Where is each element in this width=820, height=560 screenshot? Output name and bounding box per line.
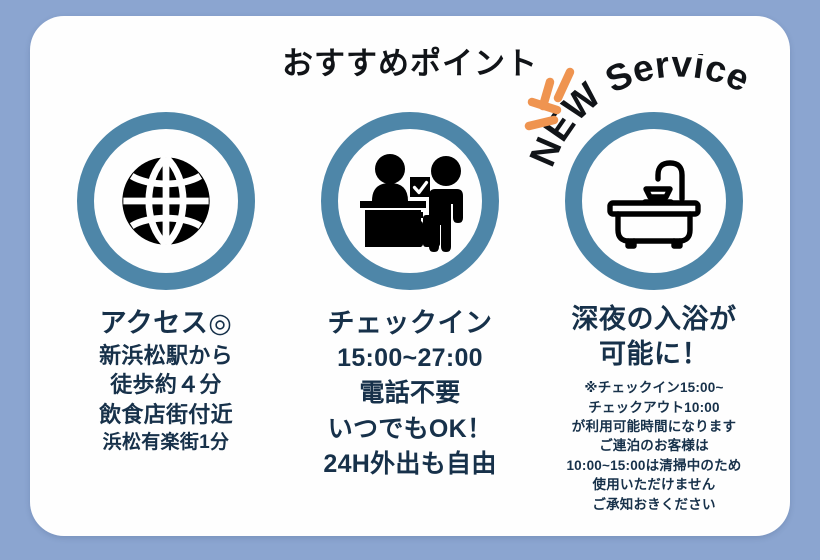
access-line-3: 飲食店街付近 xyxy=(46,400,286,430)
checkin-line-3: いつでもOK！ xyxy=(290,412,530,448)
promo-card: おすすめポイント アクセス◎ 新浜松駅から 徒歩約４ xyxy=(30,16,790,536)
bath-heading-line-1: 深夜の入浴が xyxy=(534,302,774,337)
access-line-4: 浜松有楽街1分 xyxy=(46,430,286,456)
globe-icon xyxy=(94,129,238,273)
page-title: おすすめポイント xyxy=(30,38,790,83)
access-heading: アクセス◎ xyxy=(46,306,286,341)
bath-fineprint-line-5: 10:00~15:00は清掃中のため xyxy=(534,456,774,475)
checkin-badge xyxy=(321,112,499,290)
bath-fineprint-line-1: ※チェックイン15:00~ xyxy=(534,378,774,397)
reception-desk-icon xyxy=(338,129,482,273)
bath-fineprint-line-4: ご連泊のお客様は xyxy=(534,436,774,455)
bath-fineprint: ※チェックイン15:00~ チェックアウト10:00 が利用可能時間になります … xyxy=(534,378,774,514)
access-line-2: 徒歩約４分 xyxy=(46,370,286,400)
access-line-1: 新浜松駅から xyxy=(46,341,286,371)
checkin-line-4: 24H外出も自由 xyxy=(290,447,530,483)
checkin-line-2: 電話不要 xyxy=(290,376,530,412)
feature-column-access: アクセス◎ 新浜松駅から 徒歩約４分 飲食店街付近 浜松有楽街1分 xyxy=(46,112,286,456)
bath-badge xyxy=(565,112,743,290)
checkin-heading: チェックイン xyxy=(290,306,530,341)
checkin-line-1: 15:00~27:00 xyxy=(290,341,530,377)
feature-column-bath: 深夜の入浴が 可能に！ ※チェックイン15:00~ チェックアウト10:00 が… xyxy=(534,112,774,514)
access-badge xyxy=(77,112,255,290)
feature-column-checkin: チェックイン 15:00~27:00 電話不要 いつでもOK！ 24H外出も自由 xyxy=(290,112,530,483)
bath-fineprint-line-2: チェックアウト10:00 xyxy=(534,398,774,417)
bath-fineprint-line-7: ご承知おきください xyxy=(534,495,774,514)
bath-fineprint-line-6: 使用いただけません xyxy=(534,475,774,494)
bathtub-shower-icon xyxy=(582,129,726,273)
bath-heading-line-2: 可能に！ xyxy=(534,337,774,372)
bath-fineprint-line-3: が利用可能時間になります xyxy=(534,417,774,436)
